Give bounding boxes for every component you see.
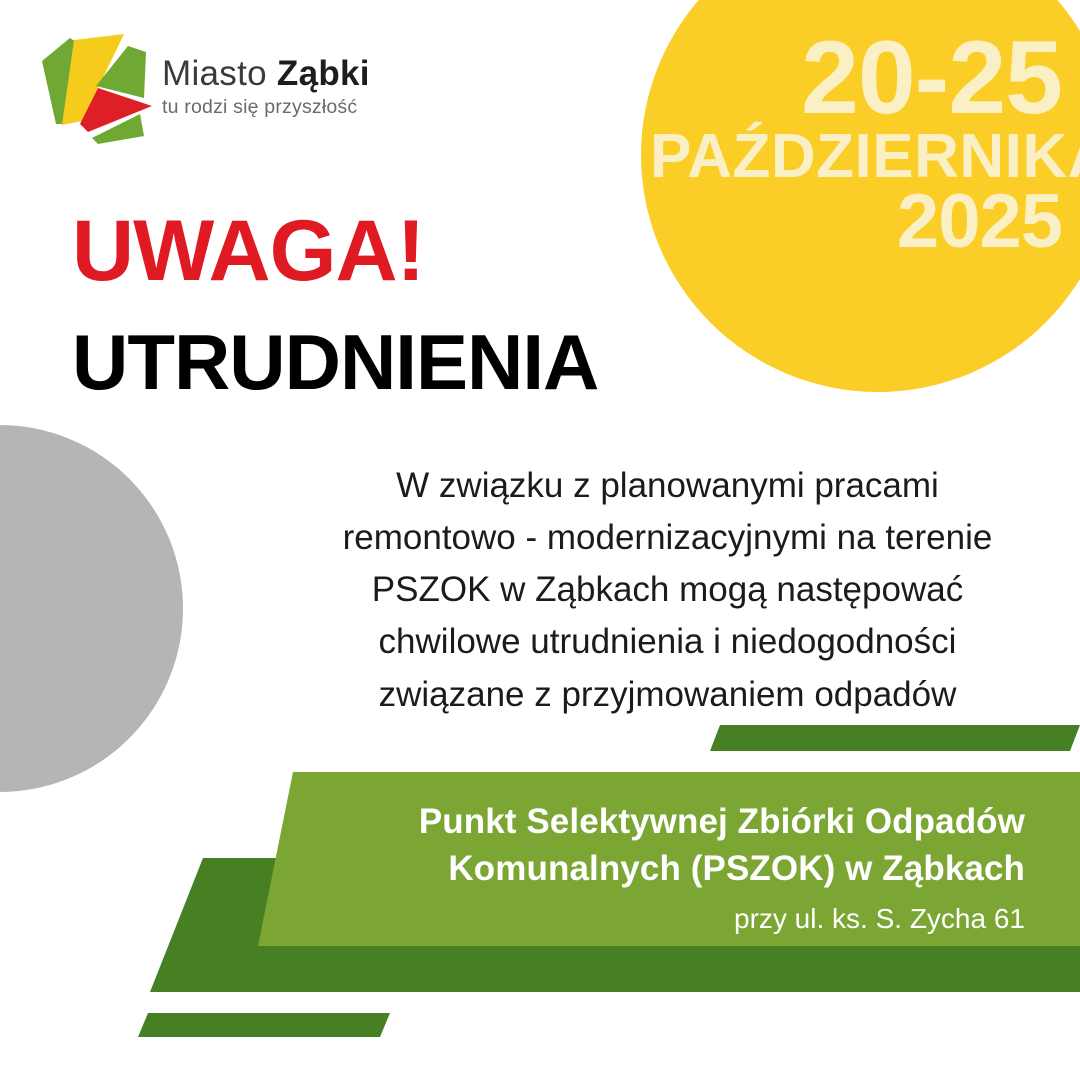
decorative-bar-top bbox=[710, 725, 1080, 751]
logo-tagline: tu rodzi się przyszłość bbox=[162, 96, 392, 119]
body-line: związane z przyjmowaniem odpadów bbox=[300, 669, 1035, 721]
logo-name-bold: Ząbki bbox=[277, 54, 370, 93]
headline-subject: UTRUDNIENIA bbox=[72, 320, 772, 406]
banner-title-line-2: Komunalnych (PSZOK) w Ząbkach bbox=[300, 845, 1025, 892]
banner-text-block: Punkt Selektywnej Zbiórki Odpadów Komuna… bbox=[300, 798, 1025, 935]
body-line: chwilowe utrudnienia i niedogodności bbox=[300, 616, 1035, 668]
miasto-zabki-logo: Miasto Ząbki tu rodzi się przyszłość bbox=[36, 28, 386, 148]
decorative-bar-bottom bbox=[138, 1013, 390, 1037]
logo-mark-icon bbox=[36, 28, 158, 150]
body-paragraph: W związku z planowanymi pracami remontow… bbox=[300, 460, 1035, 721]
body-line: PSZOK w Ząbkach mogą następować bbox=[300, 564, 1035, 616]
date-range: 20-25 bbox=[650, 30, 1062, 128]
body-line: remontowo - modernizacyjnymi na terenie bbox=[300, 512, 1035, 564]
body-line: W związku z planowanymi pracami bbox=[300, 460, 1035, 512]
date-month: PAŹDZIERNIKA bbox=[650, 128, 1062, 186]
gray-circle-shape bbox=[0, 425, 183, 792]
poster-canvas: Miasto Ząbki tu rodzi się przyszłość 20-… bbox=[0, 0, 1080, 1080]
banner-address: przy ul. ks. S. Zycha 61 bbox=[300, 903, 1025, 935]
banner-title-line-1: Punkt Selektywnej Zbiórki Odpadów bbox=[300, 798, 1025, 845]
logo-name-plain: Miasto bbox=[162, 54, 277, 93]
headline-block: UWAGA! UTRUDNIENIA bbox=[72, 205, 772, 406]
logo-name: Miasto Ząbki bbox=[162, 56, 392, 93]
headline-warning: UWAGA! bbox=[72, 205, 772, 298]
logo-wordmark: Miasto Ząbki tu rodzi się przyszłość bbox=[162, 56, 392, 119]
